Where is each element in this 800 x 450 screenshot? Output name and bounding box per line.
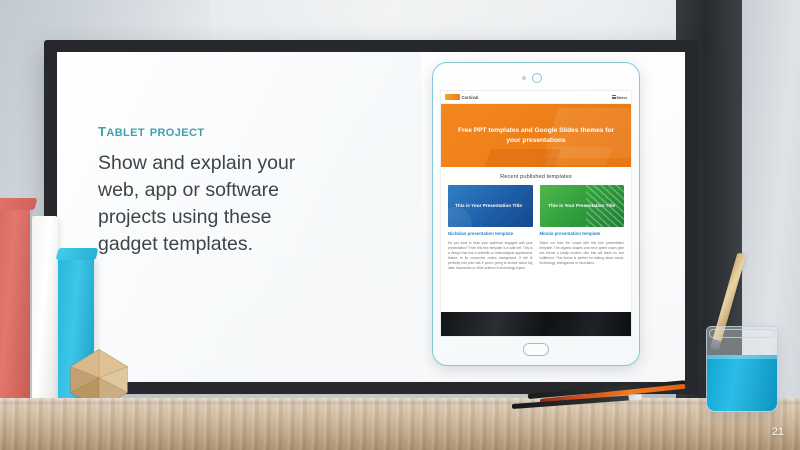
hero-banner: Free PPT templates and Google Slides the… [441,104,631,167]
desk-edge [0,398,800,404]
book-white [32,216,58,402]
template-card-description: Stand out from the crowd with this free … [540,241,625,266]
slide-body-text: Show and explain your web, app or softwa… [98,150,328,258]
template-thumbnail[interactable]: This is Your Presentation Title [540,185,625,227]
book-cyan-top-edge [56,248,99,260]
slide-text-block: Tablet project Show and explain your web… [98,120,328,258]
template-card-description: Do you want to keep your audience engage… [448,241,533,271]
hamburger-icon [612,95,615,98]
sensor-icon [522,76,526,80]
thumbnail-decoration [448,207,472,227]
template-thumbnail[interactable]: This is Your Presentation Title [448,185,533,227]
tablet-device: Carnival Menu Free PPT templates and Goo… [432,62,640,366]
wooden-desk [0,398,800,450]
slide-kicker: Tablet project [98,120,328,141]
logo-text: Carnival [462,95,479,100]
home-button[interactable] [523,343,549,356]
logo-mark-icon [445,94,460,101]
glass-jar [706,326,778,412]
site-footer-image [441,312,631,336]
menu-button[interactable]: Menu [612,95,627,100]
template-card[interactable]: This is Your Presentation Title Nicholas… [448,185,533,271]
jar-liquid [707,355,777,411]
site-logo[interactable]: Carnival [445,94,478,101]
menu-label: Menu [617,95,627,100]
thumbnail-title: This is Your Presentation Title [547,203,625,209]
desk-scene: Tablet project Show and explain your web… [0,0,800,450]
hero-decoration-c [545,147,612,165]
jar-rim [709,329,775,338]
hero-headline: Free PPT templates and Google Slides the… [441,126,631,145]
template-card-list: This is Your Presentation Title Nicholas… [441,185,631,271]
tablet-screen: Carnival Menu Free PPT templates and Goo… [440,90,632,337]
template-card-caption[interactable]: Nicholas presentation template [448,231,533,237]
camera-icon [532,73,542,83]
book-red-top-edge [0,198,37,210]
page-number: 21 [772,426,784,438]
section-title: Recent published templates [441,167,631,185]
site-header: Carnival Menu [441,91,631,104]
template-card[interactable]: This is Your Presentation Title Minola p… [540,185,625,271]
book-red [0,204,30,402]
thumbnail-title: This is Your Presentation Title [455,203,522,209]
template-card-caption[interactable]: Minola presentation template [540,231,625,237]
